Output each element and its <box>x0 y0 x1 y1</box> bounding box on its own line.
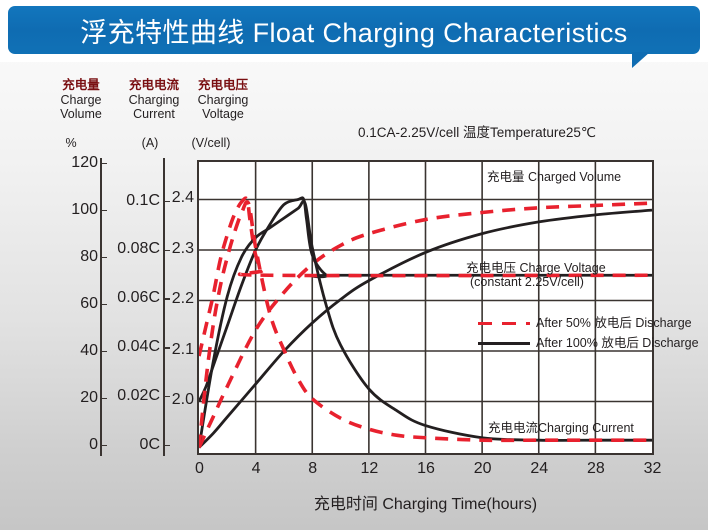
axis-tick-label-charging-current: 0C <box>104 436 160 454</box>
axis-heading-charging-current-cn: 充电电流 <box>118 78 190 93</box>
axis-heading-charge-volume-en2: Volume <box>46 107 116 122</box>
chart-plot-area <box>197 160 654 455</box>
axis-unit-percent: % <box>56 136 86 150</box>
axis-tick-label-charge-volume: 20 <box>42 389 98 407</box>
x-axis-tick-label: 4 <box>236 460 276 478</box>
legend-label: After 100% 放电后 Discharge <box>536 333 699 353</box>
x-axis-tick-label: 28 <box>576 460 616 478</box>
axis-unit-ampere: (A) <box>130 136 170 150</box>
axis-tick-charging-current <box>163 445 170 447</box>
page-title: 浮充特性曲线 Float Charging Characteristics <box>8 6 700 54</box>
axis-tick-label-charging-voltage: 2.2 <box>160 290 194 308</box>
axis-tick-label-charging-current: 0.04C <box>104 338 160 356</box>
legend-label: After 50% 放电后 Discharge <box>536 313 692 333</box>
legend-item: After 100% 放电后 Discharge <box>478 333 658 353</box>
axis-tick-label-charging-voltage: 2.3 <box>160 240 194 258</box>
axis-tick-label-charge-volume: 0 <box>42 436 98 454</box>
axis-tick-label-charge-volume: 80 <box>42 248 98 266</box>
axis-tick-charge-volume <box>100 210 107 212</box>
curve-label-charge-voltage: 充电电压 Charge Voltage <box>466 261 606 275</box>
legend-swatch-solid-icon <box>478 337 530 349</box>
axis-tick-label-charging-current: 0.06C <box>104 289 160 307</box>
axis-tick-label-charging-voltage: 2.4 <box>160 189 194 207</box>
axis-tick-label-charging-current: 0.1C <box>104 192 160 210</box>
axis-heading-charging-voltage-cn: 充电电压 <box>188 78 258 93</box>
axis-tick-label-charging-voltage: 2.0 <box>160 391 194 409</box>
legend-item: After 50% 放电后 Discharge <box>478 313 658 333</box>
axis-tick-label-charging-voltage: 2.1 <box>160 341 194 359</box>
axis-heading-charge-volume-en1: Charge <box>46 93 116 108</box>
axis-line-charge-volume <box>100 158 102 456</box>
axis-heading-charging-current-en1: Charging <box>118 93 190 108</box>
axis-heading-charging-voltage-en2: Voltage <box>188 107 258 122</box>
axis-tick-label-charge-volume: 40 <box>42 342 98 360</box>
axis-heading-charging-voltage: 充电电压 Charging Voltage <box>188 78 258 122</box>
axis-tick-label-charge-volume: 100 <box>42 201 98 219</box>
curve-label-charging-current: 充电电流Charging Current <box>488 421 634 435</box>
x-axis-tick-label: 20 <box>463 460 503 478</box>
axis-tick-label-charging-current: 0.08C <box>104 240 160 258</box>
header-banner-tail-icon <box>632 52 680 68</box>
curve-label-charge-voltage-note: (constant 2.25V/cell) <box>470 275 584 289</box>
x-axis-tick-label: 12 <box>349 460 389 478</box>
legend-swatch-dashed-icon <box>478 317 530 329</box>
chart-svg <box>199 162 652 453</box>
x-axis-tick-label: 24 <box>519 460 559 478</box>
axis-tick-label-charge-volume: 120 <box>42 154 98 172</box>
axis-heading-charge-volume-cn: 充电量 <box>46 78 116 93</box>
x-axis-tick-label: 8 <box>293 460 333 478</box>
header-band: 浮充特性曲线 Float Charging Characteristics <box>0 0 708 62</box>
axis-tick-label-charge-volume: 60 <box>42 295 98 313</box>
x-axis-tick-label: 16 <box>406 460 446 478</box>
axis-heading-charging-voltage-en1: Charging <box>188 93 258 108</box>
axis-tick-charge-volume <box>100 163 107 165</box>
chart-condition-note: 0.1CA-2.25V/cell 温度Temperature25℃ <box>358 126 596 140</box>
axis-heading-charging-current: 充电电流 Charging Current <box>118 78 190 122</box>
x-axis-label: 充电时间 Charging Time(hours) <box>197 490 654 514</box>
axis-tick-label-charging-current: 0.02C <box>104 387 160 405</box>
curve-label-charged-volume: 充电量 Charged Volume <box>487 170 621 184</box>
x-axis-tick-label: 0 <box>180 460 220 478</box>
chart-legend: After 50% 放电后 Discharge After 100% 放电后 D… <box>478 313 658 353</box>
axis-unit-volt-per-cell: (V/cell) <box>180 136 242 150</box>
axis-heading-charge-volume: 充电量 Charge Volume <box>46 78 116 122</box>
x-axis-tick-label: 32 <box>633 460 673 478</box>
axis-heading-charging-current-en2: Current <box>118 107 190 122</box>
